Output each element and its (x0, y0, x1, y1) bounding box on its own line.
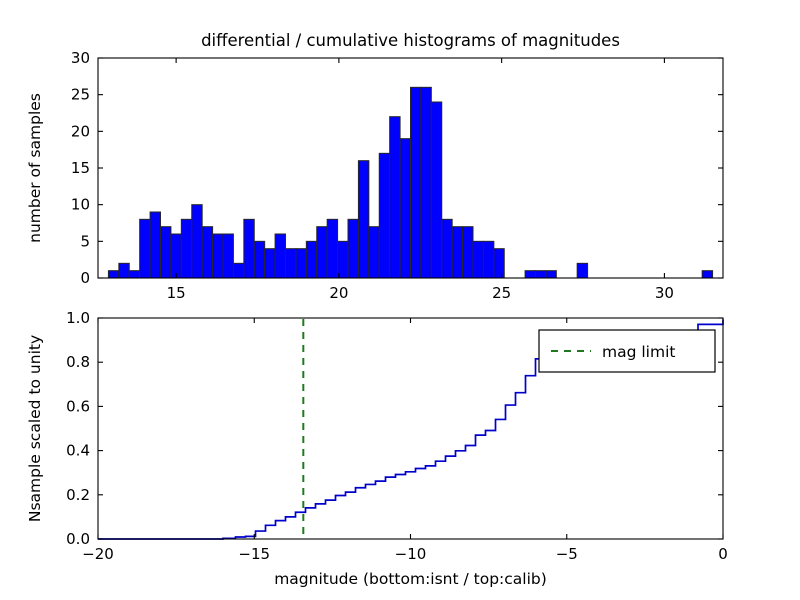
histogram-bar (202, 227, 212, 278)
figure-canvas: differential / cumulative histograms of … (0, 0, 800, 600)
histogram-bar (140, 219, 150, 278)
histogram-bar (338, 241, 348, 278)
x-tick-label: 15 (167, 284, 186, 302)
histogram-bar (546, 271, 556, 278)
histogram-bar (150, 212, 160, 278)
histogram-bar (463, 227, 473, 278)
histogram-bar (702, 271, 712, 278)
histogram-bar (400, 139, 410, 278)
histogram-bar (536, 271, 546, 278)
histogram-bar (181, 219, 191, 278)
histogram-bar (108, 271, 118, 278)
histogram-bar (421, 87, 431, 278)
histogram-bar (213, 234, 223, 278)
y-axis-label: number of samples (26, 93, 44, 243)
y-tick-label: 0.0 (66, 530, 90, 548)
histogram-bar (161, 227, 171, 278)
chart-title: differential / cumulative histograms of … (201, 31, 620, 50)
histogram-bar (431, 102, 441, 278)
y-tick-label: 0.2 (66, 486, 90, 504)
histogram-bar (379, 153, 389, 278)
histogram-bar (119, 263, 129, 278)
histogram-bar (306, 241, 316, 278)
y-tick-label: 0.8 (66, 353, 90, 371)
histogram-bar (129, 271, 139, 278)
x-tick-label: 0 (718, 545, 728, 563)
y-tick-label: 20 (71, 122, 90, 140)
histogram-bar (275, 234, 285, 278)
histogram-bar (265, 249, 275, 278)
x-tick-label: 20 (329, 284, 348, 302)
legend-label-mag-limit: mag limit (602, 343, 675, 361)
histogram-bar (494, 249, 504, 278)
histogram-bar (233, 263, 243, 278)
y-tick-label: 5 (80, 232, 90, 250)
histogram-bar (244, 219, 254, 278)
histogram-bars (108, 87, 712, 278)
histogram-bar (411, 87, 421, 278)
histogram-bar (223, 234, 233, 278)
histogram-bar (390, 117, 400, 278)
y-tick-label: 10 (71, 196, 90, 214)
y-tick-label: 30 (71, 49, 90, 67)
x-tick-label: 30 (655, 284, 674, 302)
x-tick-label: −15 (238, 545, 270, 563)
histogram-bar (483, 241, 493, 278)
histogram-bar (286, 249, 296, 278)
histogram-bar (254, 241, 264, 278)
y-axis-label: Nsample scaled to unity (26, 335, 44, 522)
differential-histogram-axes: differential / cumulative histograms of … (26, 31, 723, 302)
x-tick-label: 25 (492, 284, 511, 302)
histogram-bar (442, 219, 452, 278)
y-tick-label: 15 (71, 159, 90, 177)
histogram-bar (473, 241, 483, 278)
histogram-bar (577, 263, 587, 278)
legend[interactable]: mag limit (539, 330, 715, 372)
histogram-bar (192, 205, 202, 278)
x-tick-label: −10 (395, 545, 427, 563)
y-tick-label: 0.4 (66, 442, 90, 460)
matplotlib-figure: differential / cumulative histograms of … (0, 0, 800, 600)
x-axis-label: magnitude (bottom:isnt / top:calib) (274, 570, 547, 588)
histogram-bar (452, 227, 462, 278)
y-tick-label: 0.6 (66, 397, 90, 415)
histogram-bar (296, 249, 306, 278)
histogram-bar (358, 161, 368, 278)
histogram-bar (369, 227, 379, 278)
y-tick-label: 1.0 (66, 309, 90, 327)
histogram-bar (525, 271, 535, 278)
x-tick-label: −5 (556, 545, 578, 563)
histogram-bar (348, 219, 358, 278)
cumulative-histogram-axes: −20−15−10−500.00.20.40.60.81.0Nsample sc… (26, 309, 728, 588)
y-tick-label: 0 (80, 269, 90, 287)
histogram-bar (317, 227, 327, 278)
y-tick-label: 25 (71, 86, 90, 104)
histogram-bar (327, 219, 337, 278)
histogram-bar (171, 234, 181, 278)
